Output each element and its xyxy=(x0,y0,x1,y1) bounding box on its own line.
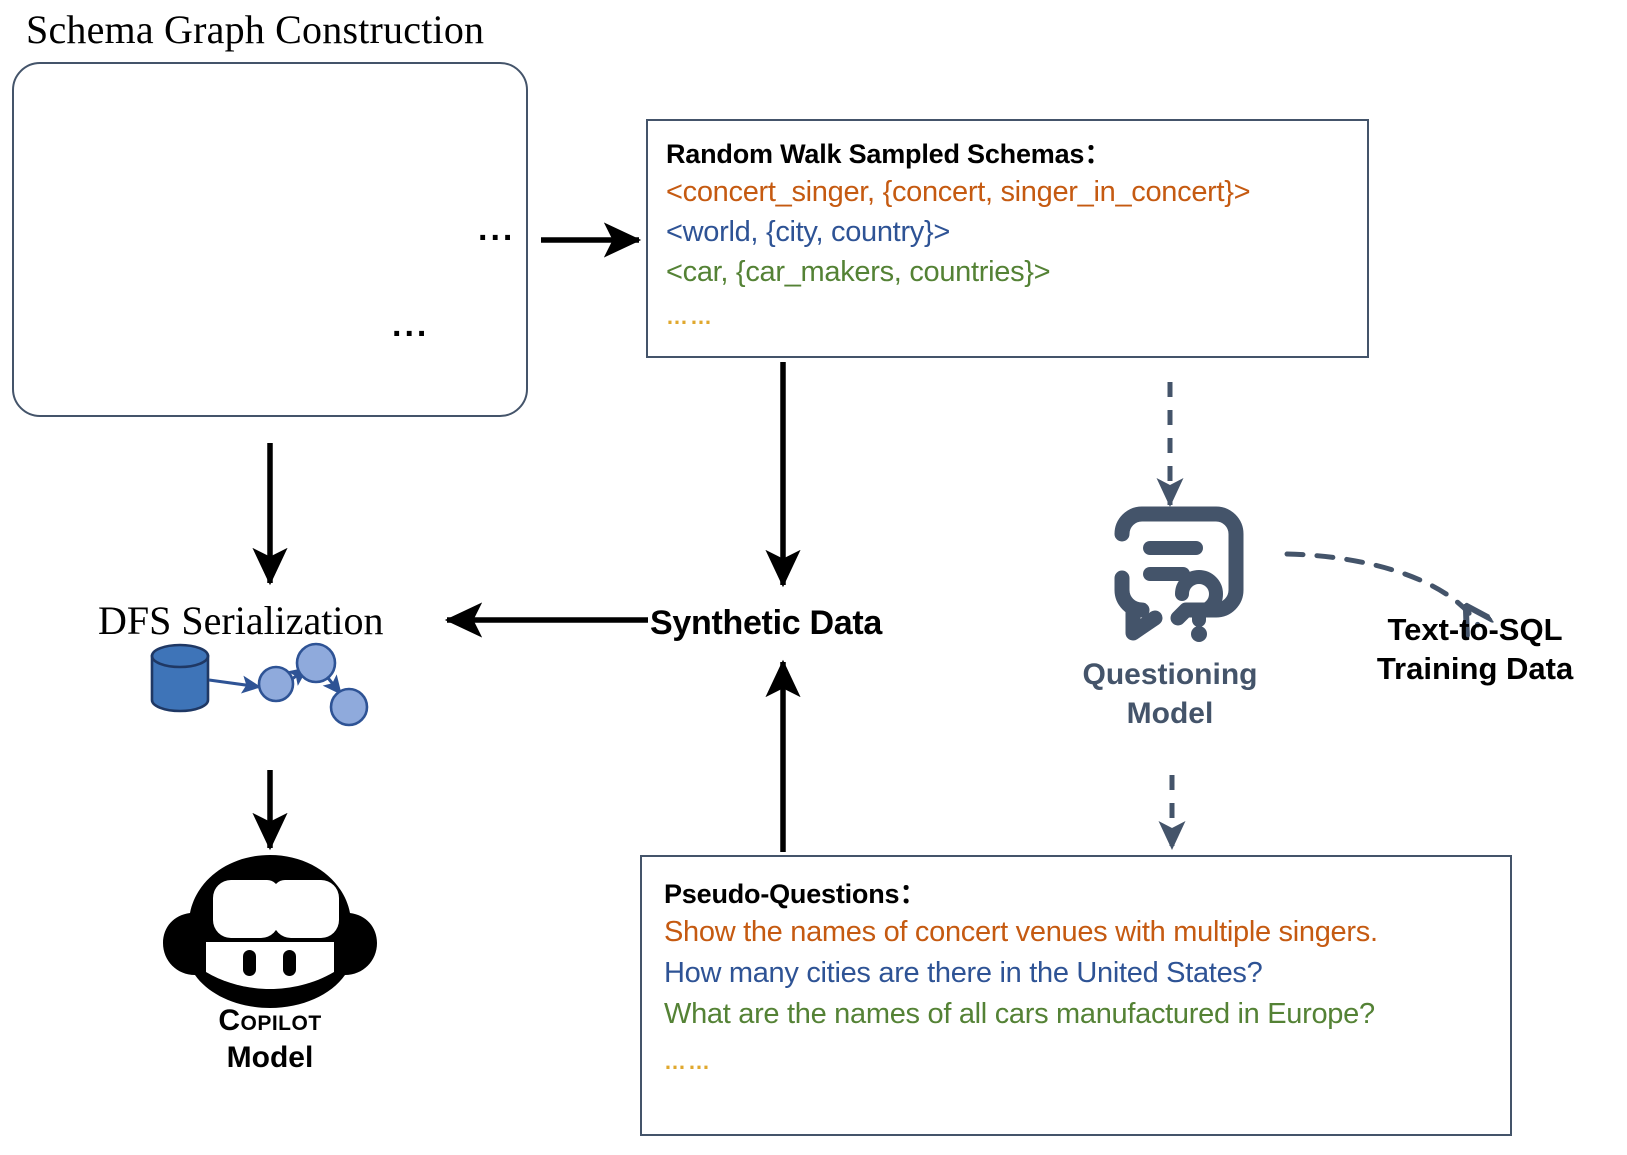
schema-line-world: <world, {city, country}> xyxy=(666,212,1367,252)
dfs-serialization-label: DFS Serialization xyxy=(98,597,384,644)
text-to-sql-label-line2: Training Data xyxy=(1330,649,1620,688)
text-to-sql-training-data-label: Text-to-SQL Training Data xyxy=(1330,610,1620,688)
questioning-model-label-line2: Model xyxy=(1055,694,1285,733)
question-line-cities: How many cities are there in the United … xyxy=(664,953,1510,994)
questions-box-heading: Pseudo-Questions： xyxy=(664,877,1510,912)
questioning-model-label-line1: Questioning xyxy=(1055,655,1285,694)
question-line-cars: What are the names of all cars manufactu… xyxy=(664,994,1510,1035)
copilot-robot-head-icon xyxy=(163,855,377,1008)
schema-graph-ellipsis-right: ... xyxy=(478,212,515,246)
copilot-model-label: Copilot Model xyxy=(110,1002,430,1076)
schema-graph-panel xyxy=(12,62,528,417)
schema-graph-ellipsis-lower: ... xyxy=(392,308,429,342)
questions-box-ellipsis: …… xyxy=(664,1049,1510,1075)
schema-line-car: <car, {car_makers, countries}> xyxy=(666,252,1367,292)
copilot-model-word-label: Model xyxy=(110,1039,430,1076)
question-line-concert-venues: Show the names of concert venues with mu… xyxy=(664,912,1510,953)
pseudo-questions-box: Pseudo-Questions： Show the names of conc… xyxy=(640,855,1512,1136)
questioning-model-label: Questioning Model xyxy=(1055,655,1285,733)
random-walk-sampled-schemas-box: Random Walk Sampled Schemas： <concert_si… xyxy=(646,119,1369,358)
schemas-box-heading: Random Walk Sampled Schemas： xyxy=(666,137,1367,172)
text-to-sql-label-line1: Text-to-SQL xyxy=(1330,610,1620,649)
schemas-box-ellipsis: …… xyxy=(666,304,1367,330)
page-title: Schema Graph Construction xyxy=(26,6,484,53)
synthetic-data-label: Synthetic Data xyxy=(650,604,882,643)
copilot-name-label: Copilot xyxy=(110,1002,430,1039)
schema-line-concert-singer: <concert_singer, {concert, singer_in_con… xyxy=(666,172,1367,212)
figure-canvas: Schema Graph Construction ... ... Random… xyxy=(0,0,1627,1155)
dfs-chain-icon xyxy=(152,644,367,725)
chat-question-icon xyxy=(1122,514,1236,642)
